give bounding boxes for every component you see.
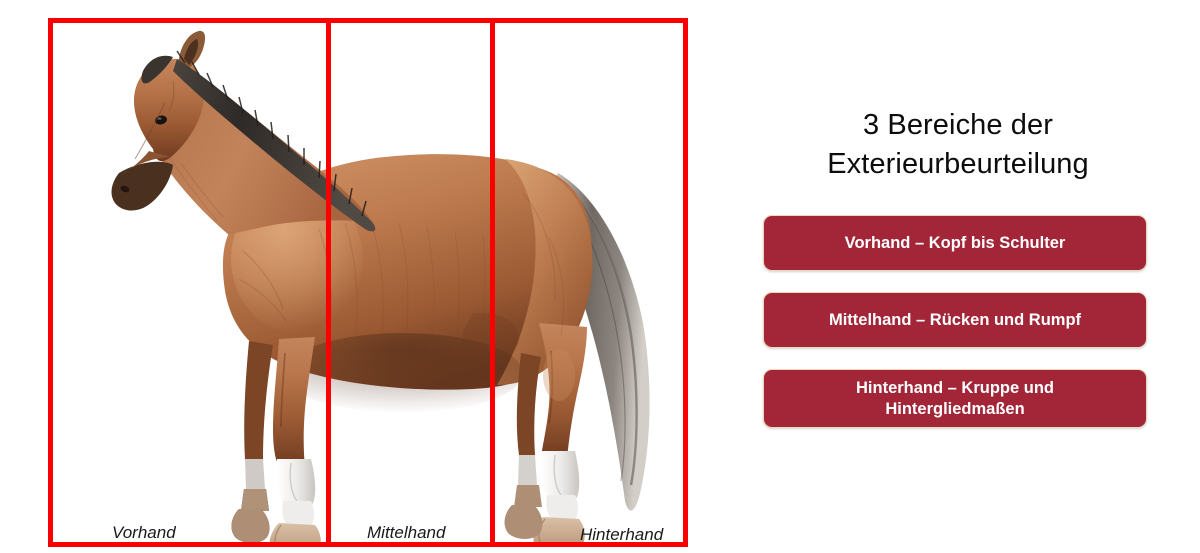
zone-label-hinterhand: Hinterhand [580,525,663,545]
horse-diagram-panel: Vorhand Mittelhand Hinterhand [48,18,688,547]
page-title: 3 Bereiche der Exterieurbeurteilung [748,106,1168,184]
zone-label-vorhand: Vorhand [112,523,176,543]
zone-button-hinterhand[interactable]: Hinterhand – Kruppe und Hintergliedmaßen [763,369,1147,428]
zone-button-mittelhand-label: Mittelhand – Rücken und Rumpf [829,310,1081,330]
horse-body [112,31,593,413]
page-title-line-2: Exterieurbeurteilung [748,145,1168,184]
horse-front-legs [232,337,321,542]
zone-button-mittelhand[interactable]: Mittelhand – Rücken und Rumpf [763,292,1147,348]
page-title-line-1: 3 Bereiche der [748,106,1168,145]
zone-divider-mittelhand-hinterhand [490,23,495,542]
zone-button-vorhand[interactable]: Vorhand – Kopf bis Schulter [763,215,1147,271]
zone-label-mittelhand: Mittelhand [367,523,445,543]
horse-illustration [53,23,683,542]
zone-divider-vorhand-mittelhand [326,23,331,542]
zone-button-hinterhand-label-line-2: Hintergliedmaßen [885,400,1024,418]
zone-button-hinterhand-label-line-1: Hinterhand – Kruppe und [856,379,1054,397]
zone-button-hinterhand-label: Hinterhand – Kruppe und Hintergliedmaßen [856,378,1054,418]
info-panel: 3 Bereiche der Exterieurbeurteilung Vorh… [748,0,1168,553]
zone-button-vorhand-label: Vorhand – Kopf bis Schulter [845,233,1066,253]
